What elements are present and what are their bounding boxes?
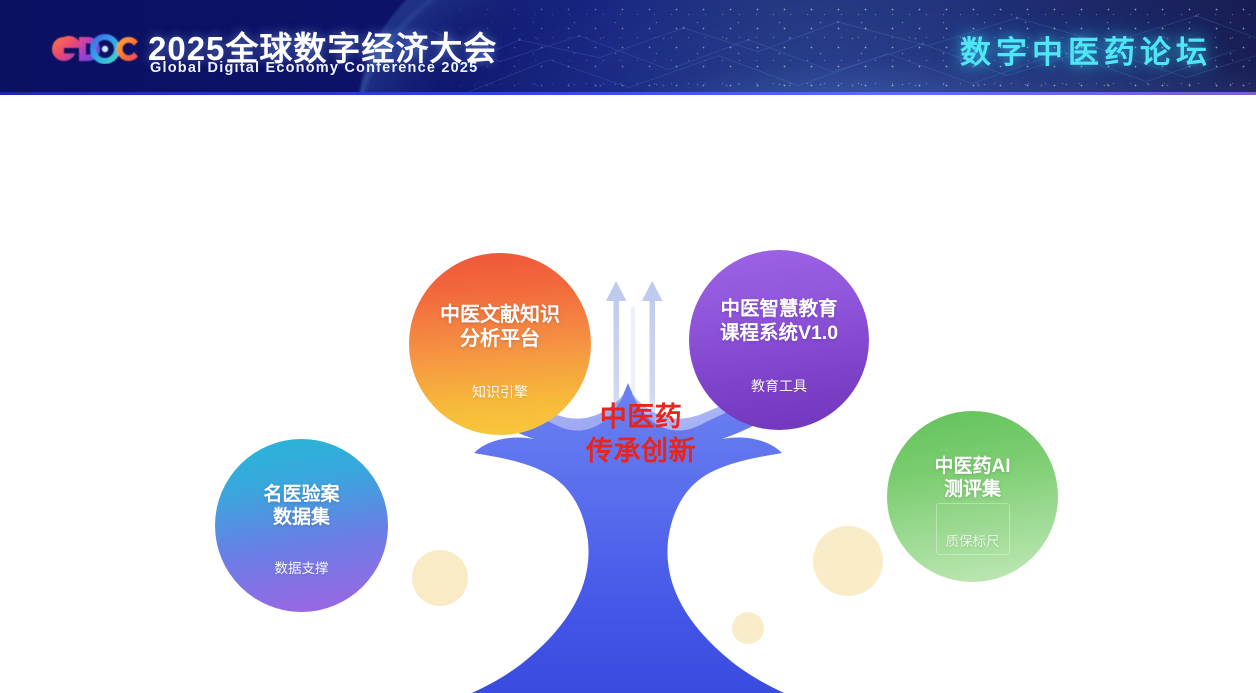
node-education-system[interactable]: 中医智慧教育 课程系统V1.0 教育工具 — [689, 250, 869, 430]
header-banner: 2025全球数字经济大会 Global Digital Economy Conf… — [0, 0, 1256, 95]
gdec-logo — [42, 27, 150, 71]
node-title: 中医药AI 测评集 — [934, 411, 1010, 501]
node-subtitle: 质保标尺 — [936, 503, 1010, 555]
node-title: 中医智慧教育 课程系统V1.0 — [720, 250, 838, 346]
node-subtitle: 教育工具 — [751, 346, 807, 396]
node-subtitle: 数据支撑 — [275, 529, 329, 577]
diagram-canvas: 中医文献知识 分析平台 知识引擎 中医智慧教育 课程系统V1.0 教育工具 名医… — [0, 95, 1256, 693]
conference-title-en: Global Digital Economy Conference 2025 — [150, 60, 478, 76]
node-clinical-dataset[interactable]: 名医验案 数据集 数据支撑 — [215, 439, 388, 612]
tree-illustration — [0, 95, 1256, 693]
node-title: 名医验案 数据集 — [263, 439, 339, 529]
node-literature-platform[interactable]: 中医文献知识 分析平台 知识引擎 — [409, 253, 591, 435]
center-slogan: 中医药 传承创新 — [571, 400, 711, 468]
node-title: 中医文献知识 分析平台 — [440, 253, 560, 352]
forum-title: 数字中医药论坛 — [960, 27, 1212, 72]
slide-root: 2025全球数字经济大会 Global Digital Economy Conf… — [0, 0, 1256, 693]
node-ai-evaluation-set[interactable]: 中医药AI 测评集 质保标尺 — [887, 411, 1058, 582]
node-subtitle: 知识引擎 — [472, 352, 528, 402]
